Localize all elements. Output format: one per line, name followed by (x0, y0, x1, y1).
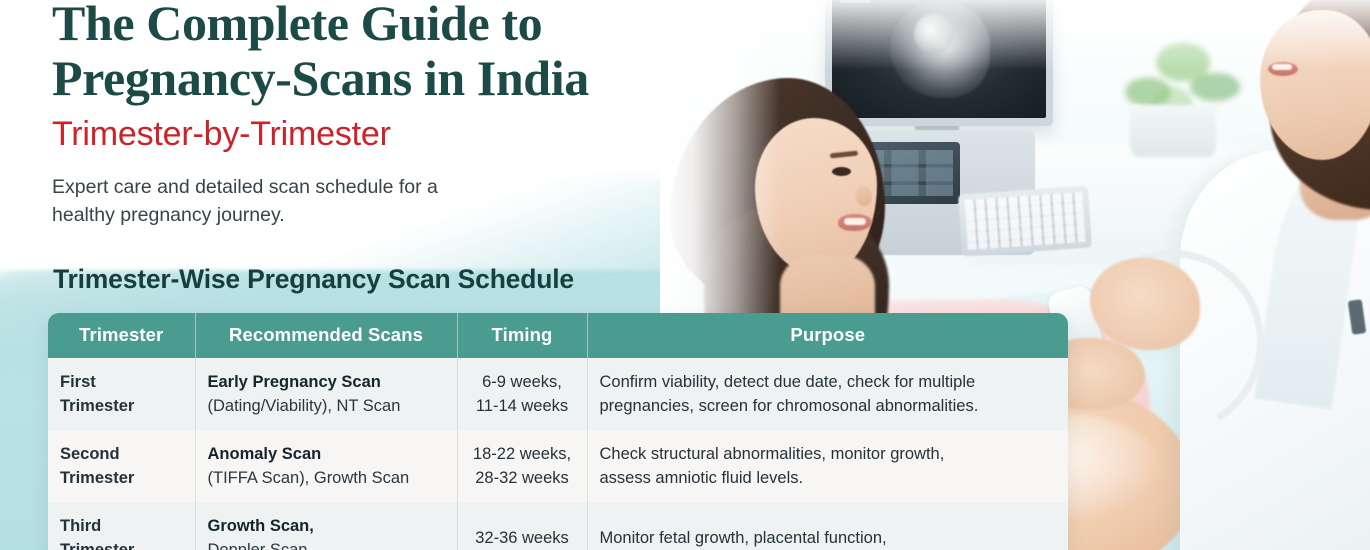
cell-trimester: Second Trimester (48, 430, 195, 502)
table-body: First Trimester Early Pregnancy Scan (Da… (48, 358, 1068, 550)
scan-secondary-label: (Dating/Viability), NT Scan (208, 394, 445, 418)
table-head: Trimester Recommended Scans Timing Purpo… (48, 313, 1068, 358)
column-header-timing: Timing (457, 313, 587, 358)
page-subtitle: Trimester-by-Trimester (52, 114, 391, 154)
scan-primary-label: Growth Scan, (208, 514, 445, 538)
scan-secondary-label: (TIFFA Scan), Growth Scan (208, 466, 445, 490)
photo-patient-eye (832, 167, 851, 176)
cell-trimester: Third Trimester (48, 502, 195, 550)
table-row: First Trimester Early Pregnancy Scan (Da… (48, 358, 1068, 430)
pregnancy-scan-infographic: The Complete Guide to Pregnancy-Scans in… (0, 0, 1370, 550)
scan-schedule-table-wrapper: Trimester Recommended Scans Timing Purpo… (48, 313, 1068, 550)
cell-trimester: First Trimester (48, 358, 195, 430)
cell-timing: 18-22 weeks, 28-32 weeks (457, 430, 587, 502)
page-lede: Expert care and detailed scan schedule f… (52, 173, 572, 229)
column-header-trimester: Trimester (48, 313, 195, 358)
column-header-purpose: Purpose (587, 313, 1068, 358)
cell-purpose: Confirm viability, detect due date, chec… (587, 358, 1068, 430)
cell-recommended-scans: Growth Scan, Doppler Scan (195, 502, 457, 550)
page-title: The Complete Guide to Pregnancy-Scans in… (52, 0, 672, 106)
column-header-recommended-scans: Recommended Scans (195, 313, 457, 358)
cell-purpose: Check structural abnormalities, monitor … (587, 430, 1068, 502)
scan-primary-label: Anomaly Scan (208, 442, 445, 466)
photo-plant-pot (1130, 105, 1216, 157)
cell-recommended-scans: Anomaly Scan (TIFFA Scan), Growth Scan (195, 430, 457, 502)
scan-schedule-table: Trimester Recommended Scans Timing Purpo… (48, 313, 1068, 550)
photo-patient-nose (856, 186, 872, 206)
cell-timing: 32-36 weeks (457, 502, 587, 550)
cell-purpose: Monitor fetal growth, placental function… (587, 502, 1068, 550)
photo-patient-teeth (844, 218, 866, 225)
section-title: Trimester-Wise Pregnancy Scan Schedule (53, 264, 574, 295)
scan-secondary-label: Doppler Scan (208, 538, 445, 550)
table-row: Second Trimester Anomaly Scan (TIFFA Sca… (48, 430, 1068, 502)
photo-console-keyboard (958, 186, 1092, 257)
table-row: Third Trimester Growth Scan, Doppler Sca… (48, 502, 1068, 550)
cell-recommended-scans: Early Pregnancy Scan (Dating/Viability),… (195, 358, 457, 430)
scan-primary-label: Early Pregnancy Scan (208, 370, 445, 394)
cell-timing: 6-9 weeks, 11-14 weeks (457, 358, 587, 430)
table-header-row: Trimester Recommended Scans Timing Purpo… (48, 313, 1068, 358)
